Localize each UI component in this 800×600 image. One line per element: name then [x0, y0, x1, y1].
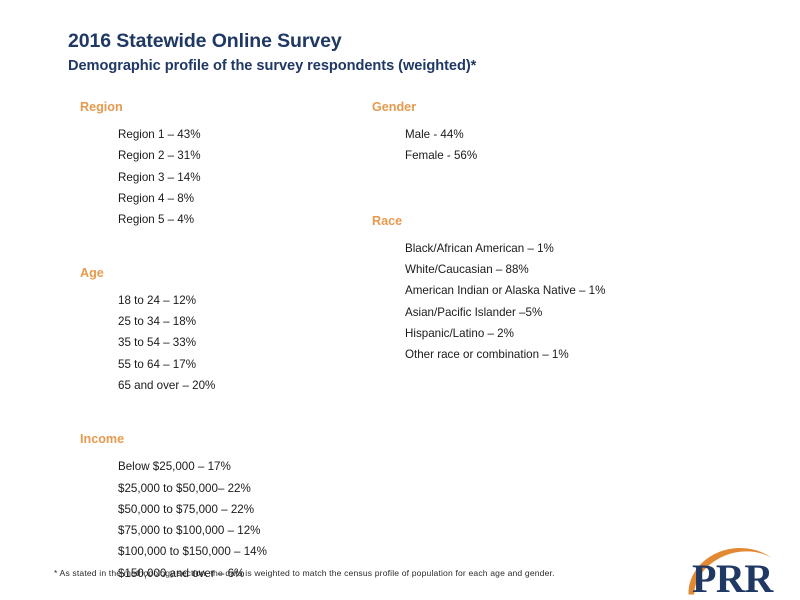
section-list-race: Black/African American – 1% White/Caucas… [405, 238, 702, 366]
section-heading-region: Region [80, 100, 380, 115]
list-item: White/Caucasian – 88% [405, 259, 702, 280]
section-list-gender: Male - 44% Female - 56% [405, 124, 702, 167]
page-subtitle: Demographic profile of the survey respon… [68, 57, 688, 75]
list-item: $75,000 to $100,000 – 12% [118, 520, 380, 541]
left-column: Region Region 1 – 43% Region 2 – 31% Reg… [80, 100, 380, 584]
section-list-age: 18 to 24 – 12% 25 to 34 – 18% 35 to 54 –… [118, 290, 380, 396]
list-item: Other race or combination – 1% [405, 344, 702, 365]
list-item: $25,000 to $50,000– 22% [118, 478, 380, 499]
list-item: Black/African American – 1% [405, 238, 702, 259]
list-item: $100,000 to $150,000 – 14% [118, 541, 380, 562]
section-heading-age: Age [80, 266, 380, 281]
footnote: * As stated in the methodology section, … [54, 568, 555, 578]
section-age: Age 18 to 24 – 12% 25 to 34 – 18% 35 to … [80, 266, 380, 397]
list-item: 55 to 64 – 17% [118, 354, 380, 375]
page-title: 2016 Statewide Online Survey [68, 30, 688, 53]
section-heading-gender: Gender [372, 100, 702, 115]
title-block: 2016 Statewide Online Survey Demographic… [68, 30, 688, 76]
section-heading-income: Income [80, 432, 380, 447]
list-item: 35 to 54 – 33% [118, 332, 380, 353]
list-item: 65 and over – 20% [118, 375, 380, 396]
list-item: $50,000 to $75,000 – 22% [118, 499, 380, 520]
list-item: Region 1 – 43% [118, 124, 380, 145]
list-item: Region 5 – 4% [118, 209, 380, 230]
slide-canvas: 2016 Statewide Online Survey Demographic… [0, 0, 800, 600]
section-region: Region Region 1 – 43% Region 2 – 31% Reg… [80, 100, 380, 231]
list-item: Region 3 – 14% [118, 167, 380, 188]
list-item: Region 2 – 31% [118, 145, 380, 166]
section-income: Income Below $25,000 – 17% $25,000 to $5… [80, 432, 380, 584]
list-item: Asian/Pacific Islander –5% [405, 302, 702, 323]
section-list-region: Region 1 – 43% Region 2 – 31% Region 3 –… [118, 124, 380, 230]
list-item: American Indian or Alaska Native – 1% [405, 280, 702, 301]
list-item: Male - 44% [405, 124, 702, 145]
section-heading-race: Race [372, 214, 702, 229]
list-item: Below $25,000 – 17% [118, 456, 380, 477]
prr-logo: PRR [686, 547, 786, 595]
section-list-income: Below $25,000 – 17% $25,000 to $50,000– … [118, 456, 380, 584]
list-item: Region 4 – 8% [118, 188, 380, 209]
section-gender: Gender Male - 44% Female - 56% [372, 100, 702, 167]
list-item: 18 to 24 – 12% [118, 290, 380, 311]
right-column: Gender Male - 44% Female - 56% Race Blac… [372, 100, 702, 366]
list-item: Female - 56% [405, 145, 702, 166]
section-race: Race Black/African American – 1% White/C… [372, 214, 702, 366]
list-item: Hispanic/Latino – 2% [405, 323, 702, 344]
logo-wordmark: PRR [692, 556, 774, 595]
list-item: 25 to 34 – 18% [118, 311, 380, 332]
